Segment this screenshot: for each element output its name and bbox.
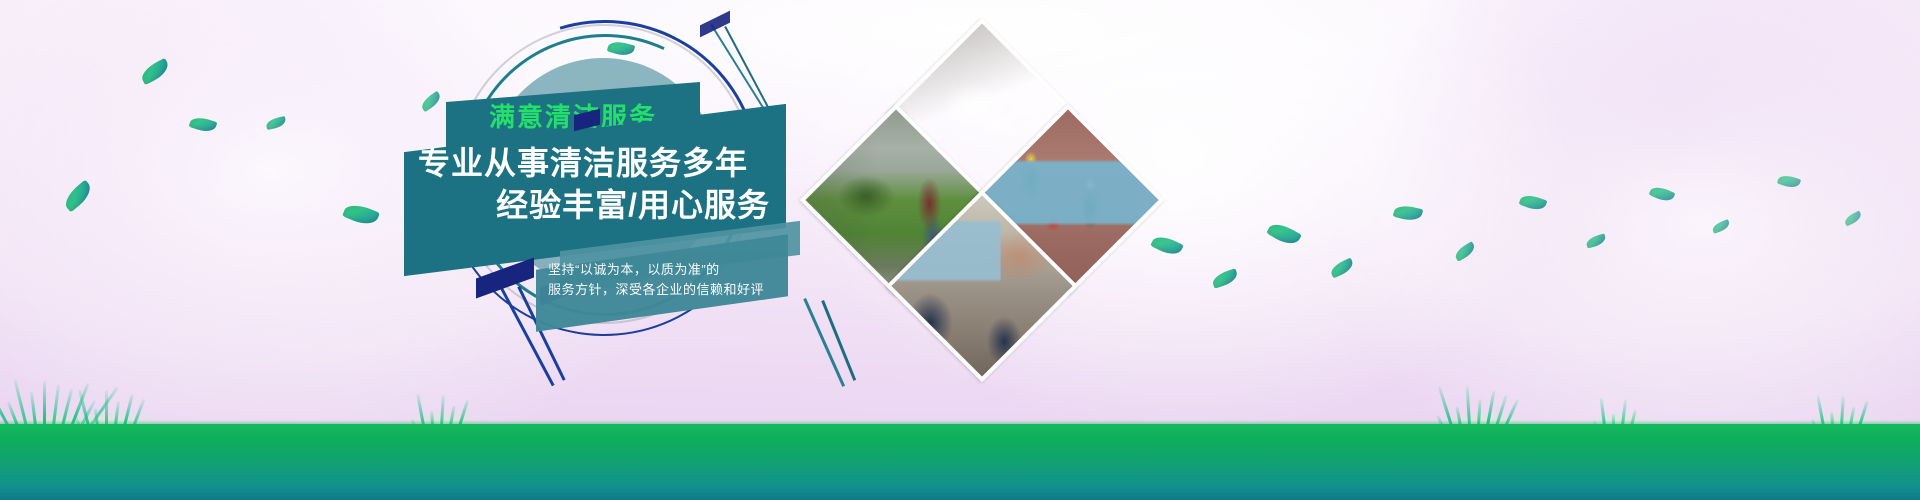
headline-line-1: 专业从事清洁服务多年 — [418, 145, 748, 181]
slogan-line-1: 坚持“以诚为本，以质为准”的 — [536, 252, 788, 280]
headline-text-block: 专业从事清洁服务多年 经验丰富/用心服务 — [404, 128, 786, 226]
background-glow-right — [1320, 0, 1920, 500]
promo-banner: 满意清洁服务 专业从事清洁服务多年 经验丰富/用心服务 坚持“以诚为本，以质为准… — [0, 0, 1920, 500]
headline-line-2: 经验丰富/用心服务 — [418, 184, 776, 226]
slogan-line-2: 服务方针，深受各企业的信赖和好评 — [536, 280, 788, 300]
photo-collage — [810, 28, 1150, 358]
